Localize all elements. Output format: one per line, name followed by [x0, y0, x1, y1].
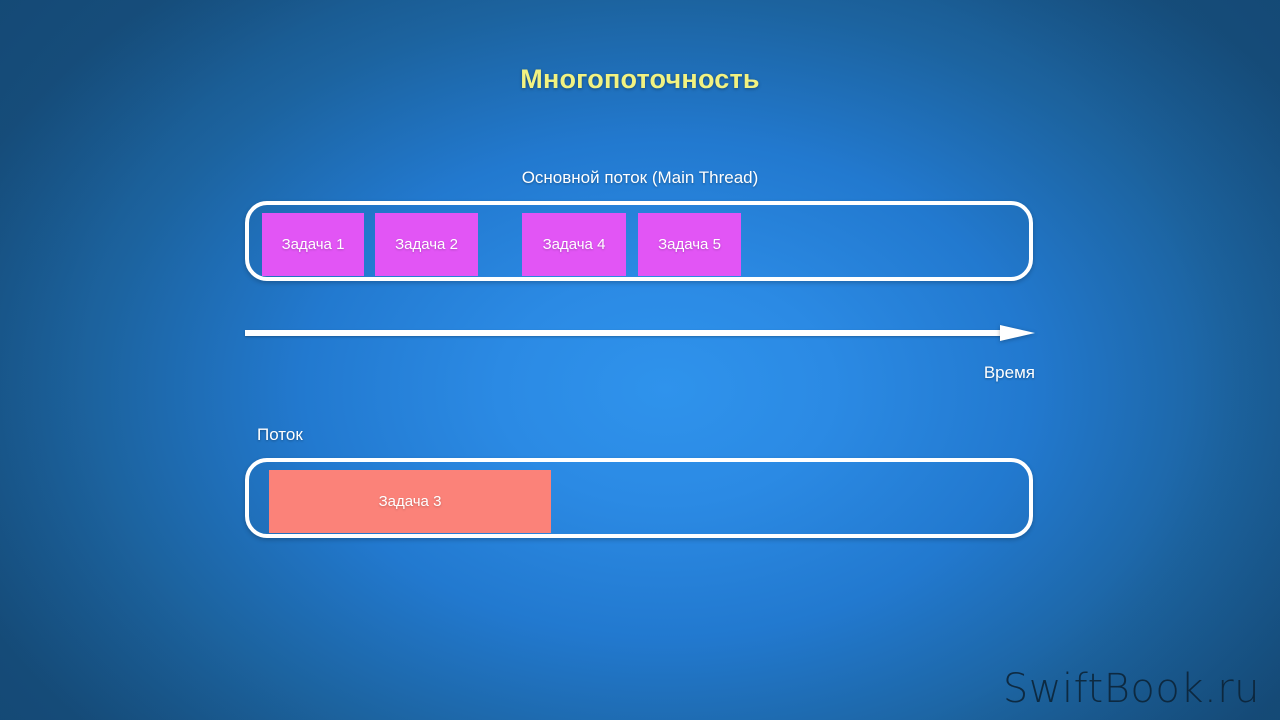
worker-thread-caption: Поток	[257, 425, 303, 445]
task-block: Задача 2	[375, 213, 478, 276]
main-thread-lane: Задача 1 Задача 2 Задача 4 Задача 5	[245, 201, 1033, 281]
time-axis	[245, 325, 1035, 341]
task-block: Задача 3	[269, 470, 551, 533]
task-block: Задача 4	[522, 213, 626, 276]
watermark: SwiftBook.ru	[1003, 666, 1260, 712]
slide-canvas: Многопоточность Основной поток (Main Thr…	[0, 0, 1280, 720]
page-title: Многопоточность	[0, 64, 1280, 95]
arrow-right-icon	[1000, 325, 1035, 341]
task-label: Задача 2	[395, 236, 458, 253]
main-thread-track: Задача 1 Задача 2 Задача 4 Задача 5	[249, 205, 1029, 277]
task-label: Задача 3	[379, 493, 442, 510]
task-label: Задача 5	[658, 236, 721, 253]
task-label: Задача 4	[543, 236, 606, 253]
task-block: Задача 5	[638, 213, 741, 276]
task-block: Задача 1	[262, 213, 364, 276]
main-thread-caption: Основной поток (Main Thread)	[0, 168, 1280, 188]
time-axis-line	[245, 330, 1002, 336]
time-axis-label: Время	[0, 363, 1035, 383]
task-label: Задача 1	[282, 236, 345, 253]
worker-thread-track: Задача 3	[249, 462, 1029, 534]
worker-thread-lane: Задача 3	[245, 458, 1033, 538]
